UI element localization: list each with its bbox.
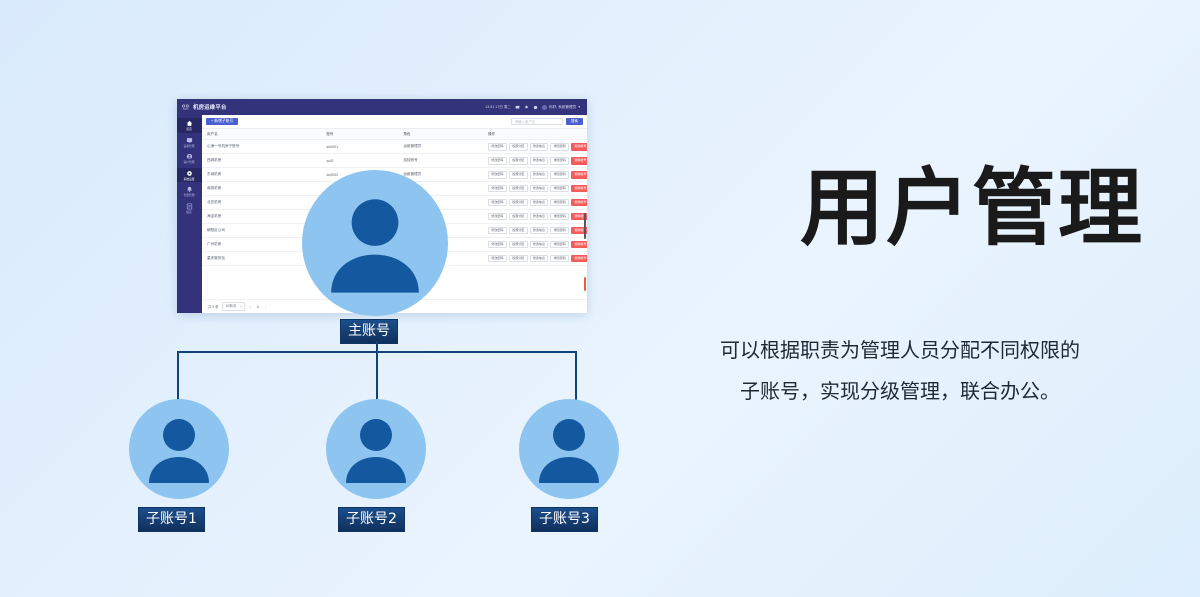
action-button[interactable]: 修改信息 xyxy=(530,241,549,249)
row-actions: 修改密码权限分配修改信息重置密码删除账号 xyxy=(488,199,587,207)
toolbar: + 新增子账号 请输入用户名 搜索 xyxy=(202,115,587,129)
topbar-right: 13:51 17日 周二 你好, 系统管理员 ▾ xyxy=(485,105,583,110)
home-icon xyxy=(186,120,193,127)
search-button[interactable]: 搜索 xyxy=(566,118,583,125)
cell-operations: 修改密码权限分配修改信息重置密码删除账号 xyxy=(483,154,587,168)
user-menu[interactable]: 你好, 系统管理员 ▾ xyxy=(542,105,580,110)
delete-account-button[interactable]: 删除账号 xyxy=(571,157,587,165)
action-button[interactable]: 重置密码 xyxy=(550,143,569,151)
description-line-2: 子账号，实现分级管理，联合办公。 xyxy=(650,371,1150,412)
fullscreen-icon[interactable] xyxy=(533,105,538,110)
child-node-label-1: 子账号1 xyxy=(138,507,205,532)
action-button[interactable]: 权限分配 xyxy=(509,199,528,207)
row-actions: 修改密码权限分配修改信息重置密码删除账号 xyxy=(488,227,587,235)
action-button[interactable]: 修改密码 xyxy=(488,213,507,221)
scrollbar-thumb[interactable] xyxy=(584,213,587,239)
gear-network-icon xyxy=(181,103,190,112)
sidebar-item-label: 报表 xyxy=(187,211,193,214)
cell-operations: 修改密码权限分配修改信息重置密码删除账号 xyxy=(483,196,587,210)
cell-name: 山海一号机房子账号 xyxy=(202,140,321,154)
prev-page-button[interactable]: ‹ xyxy=(248,305,252,309)
sidebar-item-label: 设备管理 xyxy=(184,145,195,148)
action-button[interactable]: 修改信息 xyxy=(530,143,549,151)
child-avatar-icon-2 xyxy=(326,399,426,499)
search-input[interactable]: 请输入用户名 xyxy=(511,118,563,125)
action-button[interactable]: 重置密码 xyxy=(550,227,569,235)
sidebar-item-label: 系统设置 xyxy=(184,178,195,181)
cell-operations: 修改密码权限分配修改信息重置密码删除账号 xyxy=(483,251,587,265)
brand: 机房运维平台 xyxy=(181,103,227,112)
action-button[interactable]: 修改信息 xyxy=(530,185,549,193)
action-button[interactable]: 修改密码 xyxy=(488,199,507,207)
page-number-1[interactable]: 1 xyxy=(256,305,261,309)
action-button[interactable]: 权限分配 xyxy=(509,171,528,179)
delete-account-button[interactable]: 删除账号 xyxy=(571,255,587,263)
action-button[interactable]: 修改密码 xyxy=(488,185,507,193)
child-avatar-icon-1 xyxy=(129,399,229,499)
tree-line-branch-1 xyxy=(177,351,179,400)
action-button[interactable]: 修改信息 xyxy=(530,227,549,235)
sidebar-item-settings[interactable]: 系统设置 xyxy=(177,168,202,183)
delete-account-button[interactable]: 删除账号 xyxy=(571,241,587,249)
action-button[interactable]: 重置密码 xyxy=(550,157,569,165)
cell-account: sh0001 xyxy=(321,140,398,154)
illustration-panel: 机房运维平台 13:51 17日 周二 你好, 系统管理员 ▾ xyxy=(0,0,660,597)
action-button[interactable]: 修改信息 xyxy=(530,213,549,221)
sidebar-item-alarms[interactable]: 告警管理 xyxy=(177,184,202,199)
row-actions: 修改密码权限分配修改信息重置密码删除账号 xyxy=(488,157,587,165)
action-button[interactable]: 修改密码 xyxy=(488,171,507,179)
app-sidebar: 首页 设备管理 客户管理 xyxy=(177,115,202,313)
delete-account-button[interactable]: 删除账号 xyxy=(571,171,587,179)
column-header-role: 角色 xyxy=(398,129,483,140)
chevron-down-icon: ▾ xyxy=(578,105,580,109)
sidebar-item-customers[interactable]: 客户管理 xyxy=(177,151,202,166)
sidebar-item-reports[interactable]: 报表 xyxy=(177,201,202,216)
tree-line-branch-3 xyxy=(575,351,577,400)
action-button[interactable]: 权限分配 xyxy=(509,157,528,165)
action-button[interactable]: 权限分配 xyxy=(509,143,528,151)
action-button[interactable]: 重置密码 xyxy=(550,199,569,207)
cell-operations: 修改密码权限分配修改信息重置密码删除账号 xyxy=(483,210,587,224)
action-button[interactable]: 权限分配 xyxy=(509,241,528,249)
scrollbar-marker[interactable] xyxy=(584,277,587,291)
row-actions: 修改密码权限分配修改信息重置密码删除账号 xyxy=(488,171,587,179)
delete-account-button[interactable]: 删除账号 xyxy=(571,185,587,193)
child-node-label-3: 子账号3 xyxy=(531,507,598,532)
cell-operations: 修改密码权限分配修改信息重置密码删除账号 xyxy=(483,140,587,154)
action-button[interactable]: 修改信息 xyxy=(530,171,549,179)
page-description: 可以根据职责为管理人员分配不同权限的 子账号，实现分级管理，联合办公。 xyxy=(650,330,1150,412)
action-button[interactable]: 修改密码 xyxy=(488,143,507,151)
action-button[interactable]: 修改信息 xyxy=(530,199,549,207)
action-button[interactable]: 修改密码 xyxy=(488,157,507,165)
monitor-icon[interactable] xyxy=(515,105,520,110)
page-size-select[interactable]: 10条/页 xyxy=(222,302,246,310)
cell-operations: 修改密码权限分配修改信息重置密码删除账号 xyxy=(483,224,587,238)
sidebar-item-devices[interactable]: 设备管理 xyxy=(177,135,202,150)
brand-name: 机房运维平台 xyxy=(193,103,227,111)
add-subaccount-button[interactable]: + 新增子账号 xyxy=(206,118,238,126)
tree-line-branch-2 xyxy=(376,351,378,400)
cell-operations: 修改密码权限分配修改信息重置密码删除账号 xyxy=(483,182,587,196)
root-avatar-icon xyxy=(302,170,448,316)
table-header-row: 用户名 账号 角色 操作 xyxy=(202,129,587,140)
row-actions: 修改密码权限分配修改信息重置密码删除账号 xyxy=(488,185,587,193)
alarm-icon xyxy=(186,186,193,193)
toolbar-right: 请输入用户名 搜索 xyxy=(511,118,583,125)
column-header-ops: 操作 xyxy=(483,129,587,140)
row-actions: 修改密码权限分配修改信息重置密码删除账号 xyxy=(488,241,587,249)
user-circle-icon xyxy=(186,153,193,160)
delete-account-button[interactable]: 删除账号 xyxy=(571,143,587,151)
table-row: 西城机房xc01巡检账号修改密码权限分配修改信息重置密码删除账号 xyxy=(202,154,587,168)
row-actions: 修改密码权限分配修改信息重置密码删除账号 xyxy=(488,255,587,263)
sidebar-item-label: 告警管理 xyxy=(184,194,195,197)
action-button[interactable]: 重置密码 xyxy=(550,185,569,193)
table-row: 山海一号机房子账号sh0001运维管理员修改密码权限分配修改信息重置密码删除账号 xyxy=(202,140,587,154)
cell-role: 运维管理员 xyxy=(398,140,483,154)
sidebar-item-label: 首页 xyxy=(187,128,193,131)
description-line-1: 可以根据职责为管理人员分配不同权限的 xyxy=(650,330,1150,371)
action-button[interactable]: 修改信息 xyxy=(530,157,549,165)
page-title: 用户管理 xyxy=(800,166,1144,250)
action-button[interactable]: 修改密码 xyxy=(488,227,507,235)
action-button[interactable]: 修改密码 xyxy=(488,255,507,263)
column-header-account: 账号 xyxy=(321,129,398,140)
pagination-total: 共 9 条 xyxy=(208,304,219,309)
text-panel: 用户管理 可以根据职责为管理人员分配不同权限的 子账号，实现分级管理，联合办公。 xyxy=(640,0,1200,597)
action-button[interactable]: 权限分配 xyxy=(509,213,528,221)
search-placeholder: 请输入用户名 xyxy=(515,119,535,124)
gear-icon xyxy=(186,170,193,177)
sidebar-item-home[interactable]: 首页 xyxy=(177,118,202,133)
child-node-label-2: 子账号2 xyxy=(338,507,405,532)
cell-name: 西城机房 xyxy=(202,154,321,168)
row-actions: 修改密码权限分配修改信息重置密码删除账号 xyxy=(488,213,587,221)
action-button[interactable]: 权限分配 xyxy=(509,255,528,263)
action-button[interactable]: 权限分配 xyxy=(509,185,528,193)
bell-icon[interactable] xyxy=(524,105,529,110)
action-button[interactable]: 重置密码 xyxy=(550,255,569,263)
user-name: 你好, 系统管理员 xyxy=(549,105,576,110)
avatar xyxy=(542,105,547,110)
sidebar-item-label: 客户管理 xyxy=(184,161,195,164)
column-header-name: 用户名 xyxy=(202,129,321,140)
topbar-datetime: 13:51 17日 周二 xyxy=(485,105,511,110)
monitor-icon xyxy=(186,137,193,144)
action-button[interactable]: 修改信息 xyxy=(530,255,549,263)
root-node-label: 主账号 xyxy=(340,319,398,344)
action-button[interactable]: 重置密码 xyxy=(550,171,569,179)
next-page-button[interactable]: › xyxy=(263,305,267,309)
delete-account-button[interactable]: 删除账号 xyxy=(571,199,587,207)
action-button[interactable]: 权限分配 xyxy=(509,227,528,235)
cell-operations: 修改密码权限分配修改信息重置密码删除账号 xyxy=(483,237,587,251)
cell-role: 巡检账号 xyxy=(398,154,483,168)
cell-operations: 修改密码权限分配修改信息重置密码删除账号 xyxy=(483,168,587,182)
report-icon xyxy=(186,203,193,210)
app-topbar: 机房运维平台 13:51 17日 周二 你好, 系统管理员 ▾ xyxy=(177,99,587,115)
action-button[interactable]: 重置密码 xyxy=(550,213,569,221)
action-button[interactable]: 修改密码 xyxy=(488,241,507,249)
row-actions: 修改密码权限分配修改信息重置密码删除账号 xyxy=(488,143,587,151)
action-button[interactable]: 重置密码 xyxy=(550,241,569,249)
child-avatar-icon-3 xyxy=(519,399,619,499)
cell-account: xc01 xyxy=(321,154,398,168)
